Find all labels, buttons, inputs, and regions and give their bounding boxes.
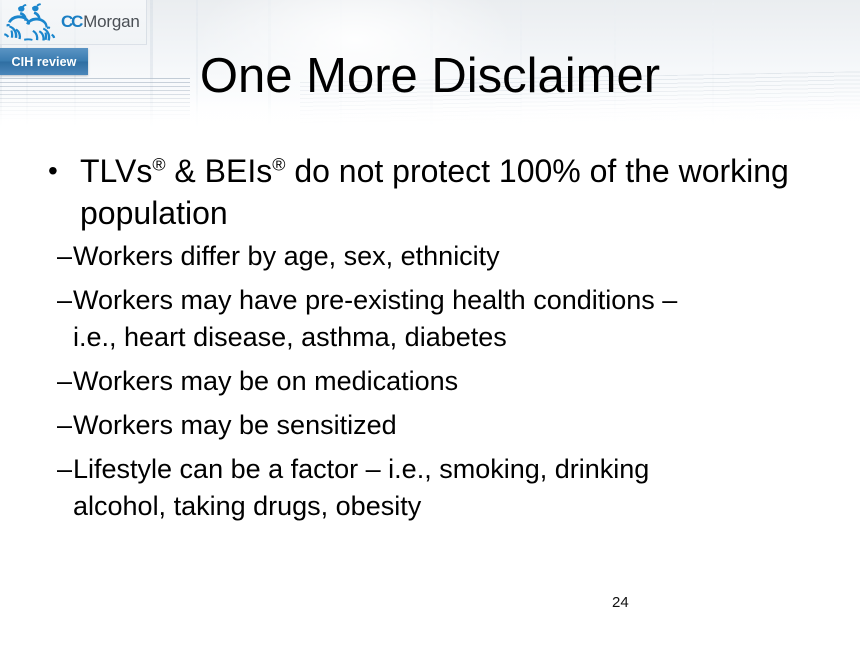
sub-bullet-text: Workers may be on medications <box>73 363 698 400</box>
sub-bullet-list: – Workers differ by age, sex, ethnicity … <box>36 238 836 525</box>
bullet-marker-icon: • <box>36 150 80 192</box>
sub-bullet-item: – Workers may have pre-existing health c… <box>36 282 836 356</box>
logo-morgan-text: Morgan <box>83 12 139 31</box>
dash-marker-icon: – <box>36 282 73 319</box>
sub-bullet-item: – Workers differ by age, sex, ethnicity <box>36 238 836 275</box>
sub-bullet-text: Workers may be sensitized <box>73 407 698 444</box>
dash-marker-icon: – <box>36 363 73 400</box>
slide-body: • TLVs® & BEIs® do not protect 100% of t… <box>36 150 836 532</box>
dash-marker-icon: – <box>36 407 73 444</box>
slide: CCMorgan CIH review One More Disclaimer … <box>0 0 860 650</box>
sub-bullet-item: – Workers may be sensitized <box>36 407 836 444</box>
page-number: 24 <box>612 594 629 611</box>
logo: CCMorgan <box>0 0 147 45</box>
logo-wordmark: CCMorgan <box>61 12 140 32</box>
sub-bullet-item: – Lifestyle can be a factor – i.e., smok… <box>36 451 836 525</box>
main-bullet-text-part1: TLVs <box>80 153 152 189</box>
registered-mark-2: ® <box>272 154 285 174</box>
dash-marker-icon: – <box>36 238 73 275</box>
main-bullet: • TLVs® & BEIs® do not protect 100% of t… <box>36 150 836 234</box>
sub-bullet-text: Workers differ by age, sex, ethnicity <box>73 238 698 275</box>
sub-bullet-item: – Workers may be on medications <box>36 363 836 400</box>
page-title: One More Disclaimer <box>0 48 860 104</box>
registered-mark-1: ® <box>152 154 165 174</box>
cc-morgan-horsemen-lions-emblem-icon <box>2 2 60 42</box>
sub-bullet-text: Lifestyle can be a factor – i.e., smokin… <box>73 451 698 525</box>
logo-cc-mark: CC <box>61 12 81 31</box>
main-bullet-text-part2: & BEIs <box>166 153 273 189</box>
dash-marker-icon: – <box>36 451 73 488</box>
sub-bullet-text: Workers may have pre-existing health con… <box>73 282 698 356</box>
main-bullet-text: TLVs® & BEIs® do not protect 100% of the… <box>80 150 822 234</box>
